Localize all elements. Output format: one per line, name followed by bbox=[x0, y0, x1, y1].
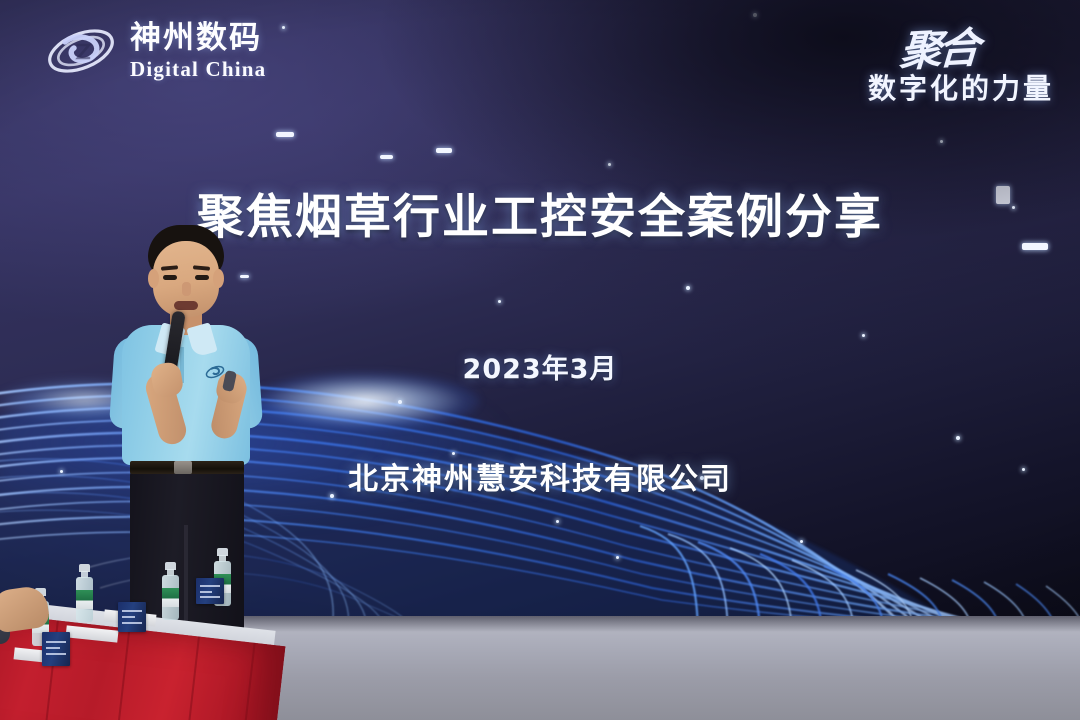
light-speck bbox=[498, 300, 501, 303]
light-speck bbox=[686, 286, 690, 290]
light-streak bbox=[276, 132, 294, 137]
brand-name-cn: 神州数码 bbox=[130, 23, 266, 54]
name-tent-card bbox=[196, 578, 224, 604]
speaker-belt-buckle bbox=[174, 461, 192, 474]
speaker-mouth bbox=[174, 301, 198, 310]
digital-china-swirl-icon bbox=[44, 20, 118, 82]
light-streak bbox=[380, 155, 393, 159]
light-speck bbox=[940, 140, 943, 143]
light-speck bbox=[753, 13, 757, 17]
speaker-eye-left bbox=[163, 275, 177, 280]
event-theme-logo: 聚合 数字化的力量 bbox=[868, 16, 1054, 107]
speaker-ear-right bbox=[213, 269, 224, 288]
speaker-ear-left bbox=[148, 269, 159, 288]
speaker-eye-right bbox=[195, 275, 209, 280]
event-theme-calligraphy: 聚合 bbox=[898, 14, 978, 79]
brand-name-en: Digital China bbox=[130, 59, 266, 80]
light-speck bbox=[282, 26, 285, 29]
light-speck bbox=[608, 163, 611, 166]
water-bottle bbox=[76, 564, 93, 622]
digital-china-logo: 神州数码 Digital China bbox=[44, 20, 266, 82]
name-tent-card bbox=[118, 602, 146, 632]
speaker-nose bbox=[182, 282, 191, 296]
water-bottle bbox=[162, 562, 179, 620]
digital-china-wordmark: 神州数码 Digital China bbox=[130, 23, 266, 80]
light-streak bbox=[436, 148, 452, 153]
name-tent-card bbox=[42, 632, 70, 666]
conference-stage-photo: 聚焦烟草行业工控安全案例分享 2023年3月 北京神州慧安科技有限公司 神州数码… bbox=[0, 0, 1080, 720]
